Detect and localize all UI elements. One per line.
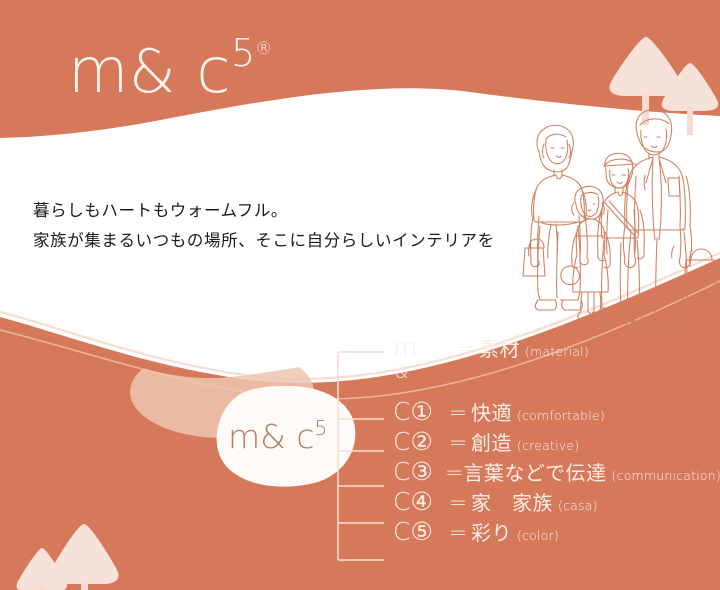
header-logo-exponent: 5: [231, 31, 255, 75]
legend-label-jp: 創造: [471, 433, 512, 453]
legend-row: C① = 快適 (comfortable): [393, 399, 720, 429]
legend-row: &: [393, 365, 720, 399]
legend-key: C③: [393, 459, 445, 484]
legend-equals: =: [453, 339, 479, 361]
figure-mother: [523, 125, 588, 310]
legend-equals: =: [445, 403, 471, 425]
legend-equals: =: [445, 493, 471, 515]
poster-canvas: m& c5® 暮らしもハートもウォームフル。 家族が集まるいつもの場所、そこに自…: [0, 0, 720, 590]
blob-logo-exponent: 5: [315, 416, 328, 440]
tagline: 暮らしもハートもウォームフル。 家族が集まるいつもの場所、そこに自分らしいインテ…: [33, 196, 495, 256]
legend-row: C③ = 言葉などで伝達 (communication): [393, 459, 720, 489]
registered-trademark-icon: ®: [255, 39, 273, 59]
legend-label-jp: 家 家族: [471, 493, 553, 513]
legend-key: m: [393, 335, 453, 360]
legend-key: C②: [393, 429, 445, 454]
legend-equals: =: [445, 433, 471, 455]
legend-row: C④ = 家 家族 (casa): [393, 489, 720, 519]
legend-label-en: (comfortable): [517, 410, 605, 423]
legend-row: C⑤ = 彩り (color): [393, 519, 720, 549]
legend-equals: =: [445, 523, 471, 545]
legend-row: C② = 創造 (creative): [393, 429, 720, 459]
legend-label-en: (casa): [558, 500, 598, 513]
legend-row: m = 素材 (material): [393, 335, 720, 365]
legend-label-en: (communication): [612, 470, 720, 483]
header-logo-ampersand: &: [129, 37, 176, 107]
legend-label-jp: 素材: [479, 339, 520, 359]
legend-label-en: (color): [517, 530, 559, 543]
legend-label-en: (material): [525, 346, 589, 359]
tagline-line-1: 暮らしもハートもウォームフル。: [33, 196, 495, 226]
blob-logo-text: m& c: [228, 417, 315, 456]
legend-label-jp: 快適: [471, 403, 512, 423]
legend-list: m = 素材 (material) & C① = 快適 (comfortable…: [393, 335, 720, 549]
page-title: m& c5®: [68, 34, 273, 102]
legend-key: C④: [393, 489, 445, 514]
legend-label-en: (creative): [517, 440, 579, 453]
legend-equals: =: [445, 463, 463, 485]
legend-label-jp: 言葉などで伝達: [463, 463, 606, 483]
legend-label-jp: 彩り: [471, 523, 512, 543]
legend-key: C①: [393, 399, 445, 424]
header-logo-m: m: [68, 34, 129, 107]
legend-key: &: [393, 365, 455, 382]
tagline-line-2: 家族が集まるいつもの場所、そこに自分らしいインテリアを: [33, 226, 495, 256]
legend-key: C⑤: [393, 519, 445, 544]
header-logo-c: c: [176, 34, 231, 107]
blob-logo: m& c5: [228, 418, 327, 453]
